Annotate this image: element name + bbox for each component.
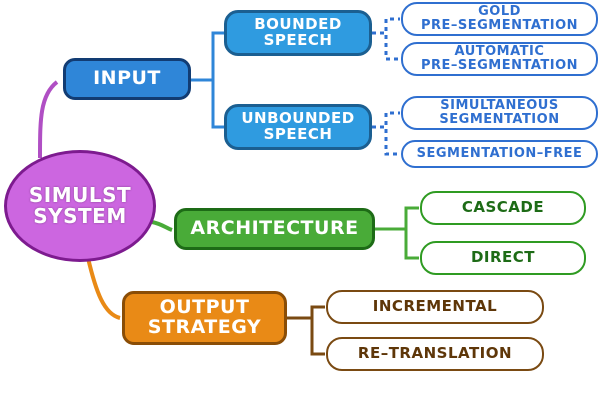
node-incremental: INCREMENTAL (326, 290, 544, 324)
node-input: INPUT (63, 58, 191, 100)
node-output-strategy: OUTPUT STRATEGY (122, 291, 287, 345)
node-gold-pre-segmentation: GOLD PRE–SEGMENTATION (401, 2, 598, 36)
node-architecture: ARCHITECTURE (174, 208, 375, 250)
node-simulst-system: SIMULST SYSTEM (4, 150, 156, 262)
node-segmentation-free: SEGMENTATION–FREE (401, 140, 598, 168)
mindmap-figure: SIMULST SYSTEM INPUT ARCHITECTURE OUTPUT… (0, 0, 606, 406)
node-bounded-speech: BOUNDED SPEECH (224, 10, 372, 56)
node-automatic-pre-segmentation: AUTOMATIC PRE–SEGMENTATION (401, 42, 598, 76)
node-re-translation: RE–TRANSLATION (326, 337, 544, 371)
node-simultaneous-segmentation: SIMULTANEOUS SEGMENTATION (401, 96, 598, 130)
node-unbounded-speech: UNBOUNDED SPEECH (224, 104, 372, 150)
node-direct: DIRECT (420, 241, 586, 275)
node-cascade: CASCADE (420, 191, 586, 225)
